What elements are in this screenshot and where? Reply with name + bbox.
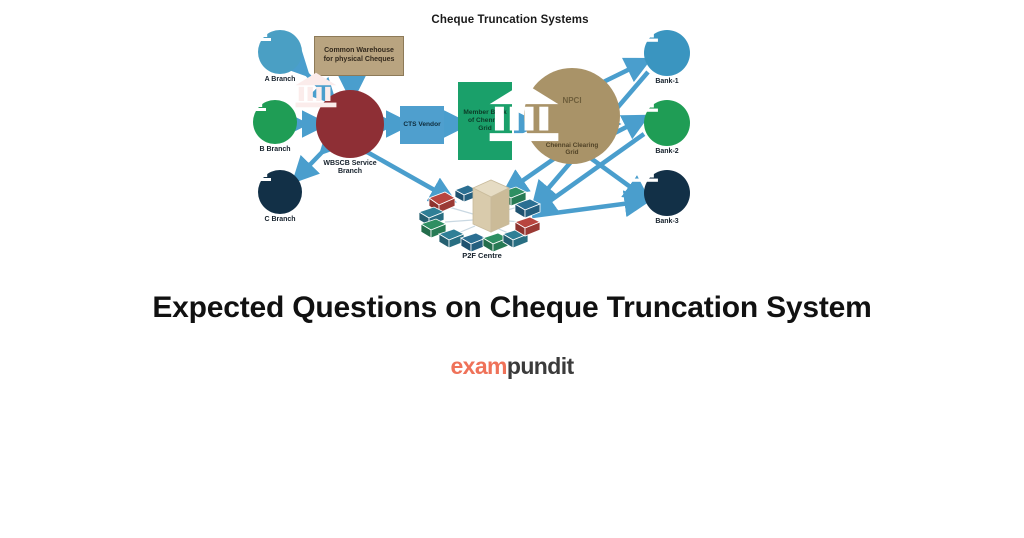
bank-1-circle bbox=[644, 30, 690, 76]
warehouse-label-line1: Common Warehouse bbox=[324, 47, 394, 56]
exampundit-logo[interactable]: exampundit bbox=[0, 353, 1024, 380]
bank-3-circle bbox=[644, 170, 690, 216]
node-bank-3[interactable]: Bank-3 bbox=[644, 170, 690, 216]
npci-label: NPCI bbox=[562, 96, 581, 105]
logo-text-pundit: pundit bbox=[507, 353, 574, 379]
a-branch-circle bbox=[258, 30, 302, 74]
bank-icon bbox=[244, 18, 272, 42]
node-c-branch[interactable]: C Branch bbox=[258, 170, 302, 214]
bank-icon bbox=[294, 71, 338, 109]
b-branch-label: B Branch bbox=[259, 146, 290, 154]
bank-3-label: Bank-3 bbox=[655, 218, 678, 226]
page-title: Expected Questions on Cheque Truncation … bbox=[0, 291, 1024, 325]
bank-icon bbox=[239, 88, 267, 112]
b-branch-circle bbox=[253, 100, 297, 144]
bank-icon bbox=[629, 157, 659, 183]
bank-icon bbox=[244, 158, 272, 182]
c-branch-label: C Branch bbox=[264, 216, 295, 224]
node-npci[interactable]: NPCI Chennai Clearing Grid bbox=[524, 68, 620, 164]
node-a-branch[interactable]: A Branch bbox=[258, 30, 302, 74]
npci-sublabel-line1: Chennai Clearing bbox=[546, 142, 599, 149]
node-b-branch[interactable]: B Branch bbox=[253, 100, 297, 144]
npci-circle: NPCI Chennai Clearing Grid bbox=[524, 68, 620, 164]
bank-2-label: Bank-2 bbox=[655, 148, 678, 156]
canvas: Cheque Truncation Systems bbox=[0, 0, 1024, 538]
bank-icon bbox=[629, 17, 659, 43]
p2f-cluster-icon bbox=[415, 174, 550, 252]
c-branch-circle bbox=[258, 170, 302, 214]
node-bank-2[interactable]: Bank-2 bbox=[644, 100, 690, 146]
bank-2-circle bbox=[644, 100, 690, 146]
p2f-centre-label: P2F Centre bbox=[462, 252, 502, 261]
logo-text-exam: exam bbox=[450, 353, 506, 379]
wbscb-label-line2: Branch bbox=[338, 168, 362, 176]
node-bank-1[interactable]: Bank-1 bbox=[644, 30, 690, 76]
node-wbscb-service-branch[interactable]: WBSCB Service Branch bbox=[316, 90, 384, 158]
wbscb-circle bbox=[316, 90, 384, 158]
cts-flow-diagram: Cheque Truncation Systems bbox=[240, 6, 780, 276]
bank-icon bbox=[629, 87, 659, 113]
cts-vendor-label: CTS Vendor bbox=[403, 121, 440, 129]
bank-1-label: Bank-1 bbox=[655, 78, 678, 86]
bank-icon bbox=[487, 80, 561, 144]
npci-sublabel-line2: Grid bbox=[565, 149, 578, 156]
warehouse-label-line2: for physical Cheques bbox=[324, 56, 395, 65]
a-branch-label: A Branch bbox=[265, 76, 296, 84]
node-common-warehouse[interactable]: Common Warehouse for physical Cheques bbox=[314, 36, 404, 76]
node-cts-vendor[interactable]: CTS Vendor bbox=[400, 106, 444, 144]
wbscb-label-line1: WBSCB Service bbox=[323, 160, 376, 168]
